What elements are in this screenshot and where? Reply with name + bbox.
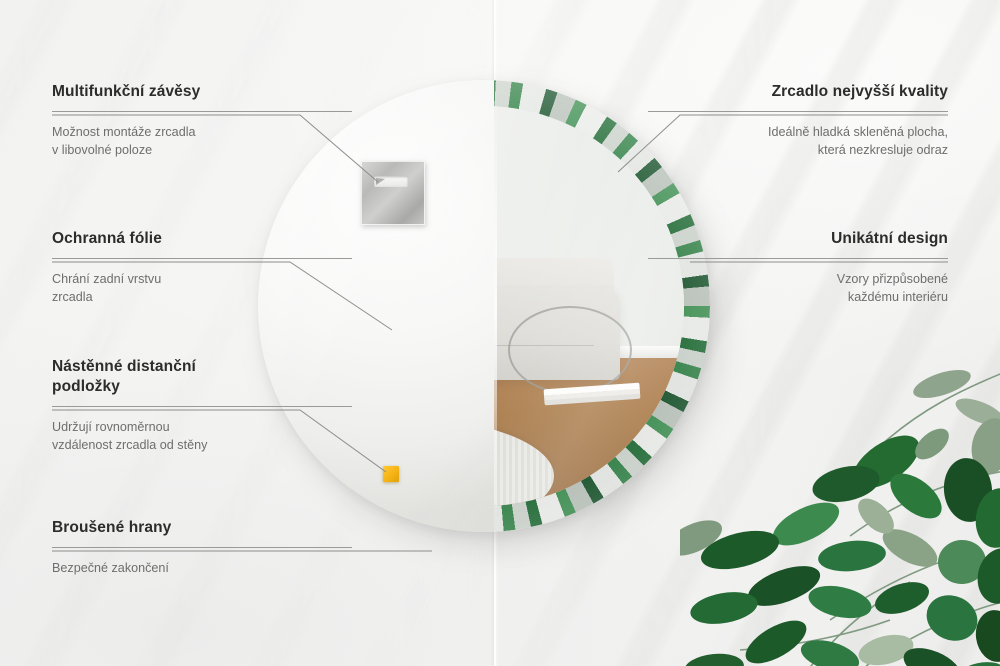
callout-brousene-hrany: Broušené hrany Bezpečné zakončení	[52, 518, 352, 577]
callout-rule	[648, 258, 948, 259]
callout-description: Vzory přizpůsobené každému interiéru	[648, 270, 948, 307]
reflected-side-table	[508, 306, 632, 394]
callout-zrcadlo-nejvyssi-kvality: Zrcadlo nejvyšší kvality Ideálně hladká …	[648, 82, 948, 159]
callout-multifunkcni-zavesy: Multifunkční závěsy Možnost montáže zrca…	[52, 82, 352, 159]
hanger-slot	[374, 176, 408, 187]
callout-title: Multifunkční závěsy	[52, 82, 352, 102]
callout-title: Broušené hrany	[52, 518, 352, 538]
callout-title: Ochranná fólie	[52, 229, 352, 249]
callout-rule	[52, 111, 352, 112]
callout-rule	[52, 547, 352, 548]
callout-title: Unikátní design	[648, 229, 948, 249]
callout-title: Zrcadlo nejvyšší kvality	[648, 82, 948, 102]
callout-title: Nástěnné distanční podložky	[52, 357, 352, 397]
callout-description: Možnost montáže zrcadla v libovolné polo…	[52, 123, 352, 160]
callout-description: Udržují rovnoměrnou vzdálenost zrcadla o…	[52, 418, 352, 455]
callout-description: Ideálně hladká skleněná plocha, která ne…	[648, 123, 948, 160]
product-infographic: Multifunkční závěsy Možnost montáže zrca…	[0, 0, 1000, 666]
mirror-bevel-edge	[494, 80, 497, 532]
wall-spacer-pad-icon	[383, 466, 399, 482]
callout-nastenne-distancni-podlozky: Nástěnné distanční podložky Udržují rovn…	[52, 357, 352, 454]
callout-description: Chrání zadní vrstvu zrcadla	[52, 270, 352, 307]
callout-ochranna-folie: Ochranná fólie Chrání zadní vrstvu zrcad…	[52, 229, 352, 306]
callout-rule	[648, 111, 948, 112]
callout-rule	[52, 406, 352, 407]
hanger-plate-icon	[361, 161, 425, 225]
callout-rule	[52, 258, 352, 259]
callout-unikatni-design: Unikátní design Vzory přizpůsobené každé…	[648, 229, 948, 306]
callout-description: Bezpečné zakončení	[52, 559, 352, 577]
